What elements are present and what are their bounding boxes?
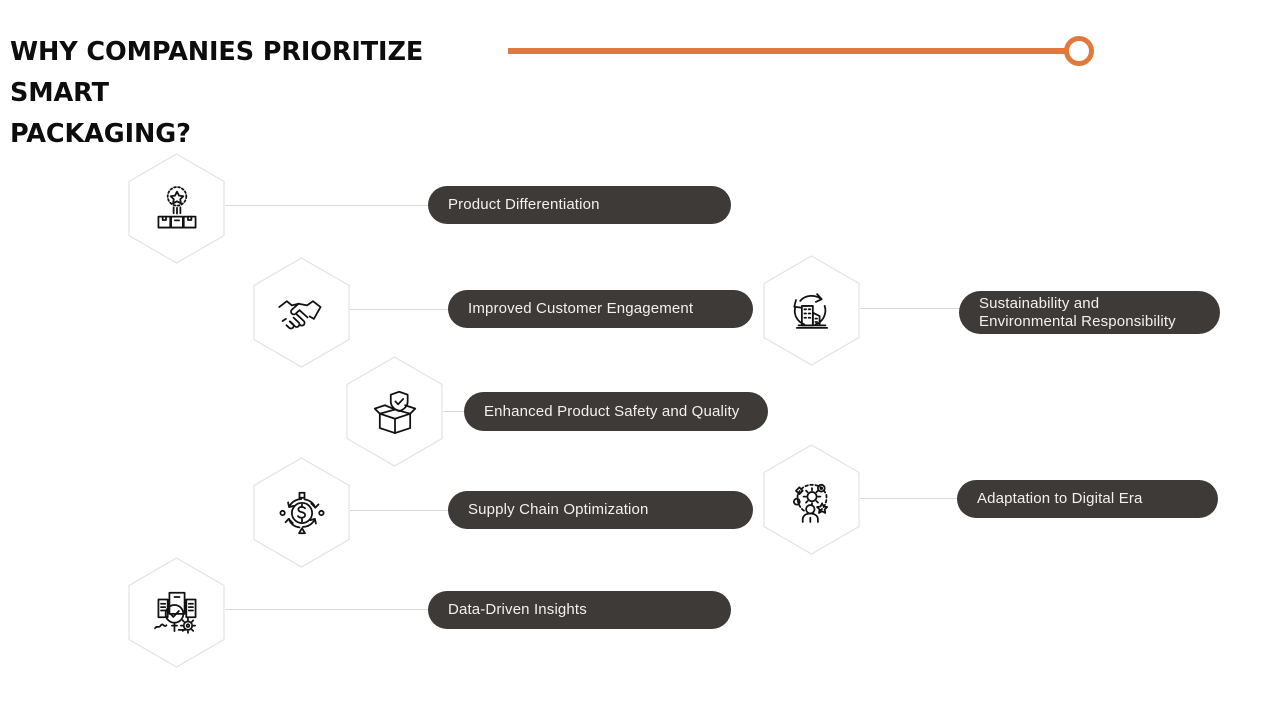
hexagon-sustainability[interactable] [763, 255, 860, 366]
connector-improved-customer-engagement [350, 309, 450, 310]
magnifier-report-gear-icon [128, 557, 225, 668]
connector-enhanced-product-safety [443, 411, 466, 412]
label-pill-improved-customer-engagement[interactable]: Improved Customer Engagement [448, 290, 753, 328]
pill-label: Data-Driven Insights [448, 601, 587, 619]
hexagon-product-differentiation[interactable] [128, 153, 225, 264]
pill-label: Product Differentiation [448, 196, 600, 214]
title-accent-rule [508, 48, 1073, 54]
title-accent-circle-node [1064, 36, 1094, 66]
hexagon-adaptation-digital-era[interactable] [763, 444, 860, 555]
label-pill-sustainability[interactable]: Sustainability and Environmental Respons… [959, 291, 1220, 334]
page-title: Why Companies Prioritize Smart Packaging… [10, 32, 530, 155]
pill-label: Supply Chain Optimization [468, 501, 649, 519]
hexagon-enhanced-product-safety[interactable] [346, 356, 443, 467]
connector-product-differentiation [225, 205, 430, 206]
person-gear-network-icon [763, 444, 860, 555]
handshake-icon [253, 257, 350, 368]
hexagon-data-driven-insights[interactable] [128, 557, 225, 668]
label-pill-data-driven-insights[interactable]: Data-Driven Insights [428, 591, 731, 629]
pill-label: Sustainability and Environmental Respons… [979, 295, 1176, 331]
label-pill-adaptation-digital-era[interactable]: Adaptation to Digital Era [957, 480, 1218, 518]
connector-adaptation-digital-era [860, 498, 960, 499]
hexagon-supply-chain-optimization[interactable] [253, 457, 350, 568]
dollar-cycle-icon [253, 457, 350, 568]
hexagon-improved-customer-engagement[interactable] [253, 257, 350, 368]
label-pill-enhanced-product-safety[interactable]: Enhanced Product Safety and Quality [464, 392, 768, 431]
connector-supply-chain-optimization [350, 510, 450, 511]
label-pill-supply-chain-optimization[interactable]: Supply Chain Optimization [448, 491, 753, 529]
factory-recycle-icon [763, 255, 860, 366]
label-pill-product-differentiation[interactable]: Product Differentiation [428, 186, 731, 224]
connector-sustainability [860, 308, 962, 309]
boxes-award-icon [128, 153, 225, 264]
connector-data-driven-insights [225, 609, 430, 610]
pill-label: Enhanced Product Safety and Quality [484, 403, 739, 421]
pill-label: Adaptation to Digital Era [977, 490, 1143, 508]
pill-label: Improved Customer Engagement [468, 300, 693, 318]
box-shield-check-icon [346, 356, 443, 467]
